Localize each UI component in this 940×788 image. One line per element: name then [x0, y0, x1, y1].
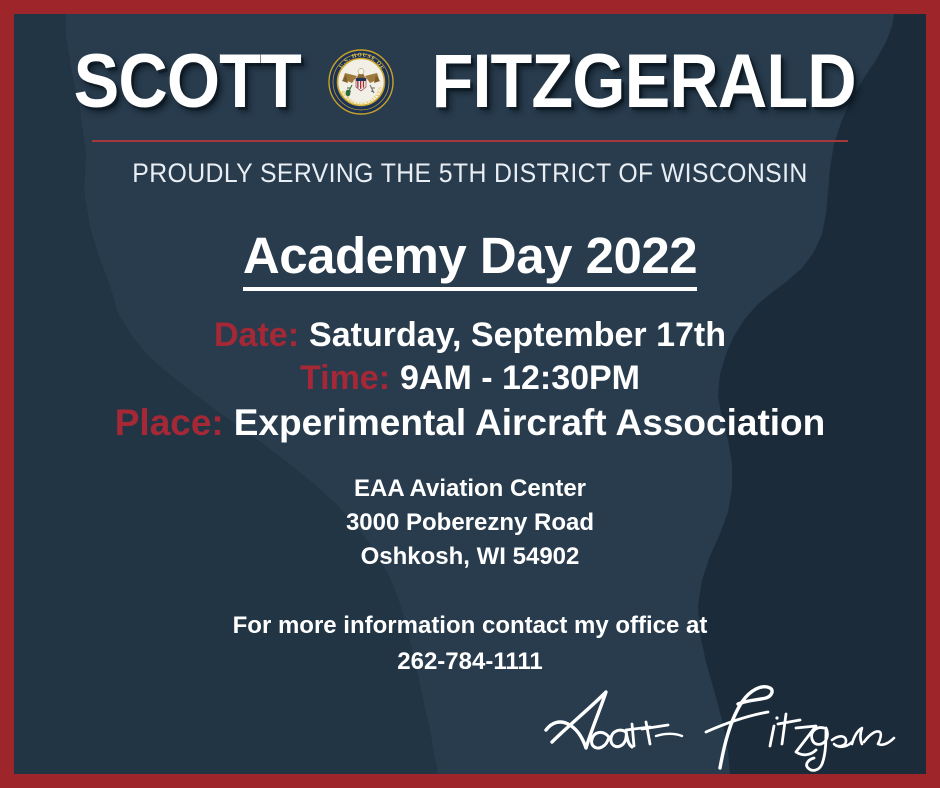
detail-row-time: Time: 9AM - 12:30PM	[300, 359, 640, 398]
address-line-2: 3000 Poberezny Road	[14, 506, 926, 540]
flyer-content: SCOTT U.S. HOUSE OF REPRESENTATIVES	[14, 14, 926, 774]
detail-value-place: Experimental Aircraft Association	[234, 402, 826, 444]
us-house-of-representatives-seal-icon: U.S. HOUSE OF REPRESENTATIVES	[328, 49, 394, 115]
event-details-list: Date: Saturday, September 17th Time: 9AM…	[14, 316, 926, 448]
district-subtitle: PROUDLY SERVING THE 5TH DISTRICT OF WISC…	[50, 158, 889, 189]
detail-row-date: Date: Saturday, September 17th	[214, 316, 726, 355]
detail-value-time: 9AM - 12:30PM	[400, 359, 640, 398]
header-title-row: SCOTT U.S. HOUSE OF REPRESENTATIVES	[14, 44, 926, 120]
contact-block: For more information contact my office a…	[14, 608, 926, 680]
address-line-3: Oshkosh, WI 54902	[14, 540, 926, 574]
contact-instruction: For more information contact my office a…	[14, 608, 926, 644]
detail-value-date: Saturday, September 17th	[309, 316, 726, 355]
address-line-1: EAA Aviation Center	[14, 472, 926, 506]
detail-label-time: Time:	[300, 359, 400, 398]
event-title-text: Academy Day 2022	[243, 227, 697, 291]
event-title: Academy Day 2022	[14, 226, 926, 285]
flyer-inner-panel: SCOTT U.S. HOUSE OF REPRESENTATIVES	[14, 14, 926, 774]
representative-first-name: SCOTT	[74, 44, 301, 120]
detail-row-place: Place: Experimental Aircraft Association	[115, 402, 826, 444]
contact-phone-number: 262-784-1111	[14, 644, 926, 680]
venue-address: EAA Aviation Center 3000 Poberezny Road …	[14, 472, 926, 574]
representative-last-name: FITZGERALD	[431, 44, 855, 120]
flyer-card: SCOTT U.S. HOUSE OF REPRESENTATIVES	[0, 0, 940, 788]
header-divider-rule	[92, 140, 848, 142]
signature-scott-fitzgerald	[534, 676, 904, 774]
detail-label-date: Date:	[214, 316, 309, 355]
detail-label-place: Place:	[115, 402, 234, 444]
